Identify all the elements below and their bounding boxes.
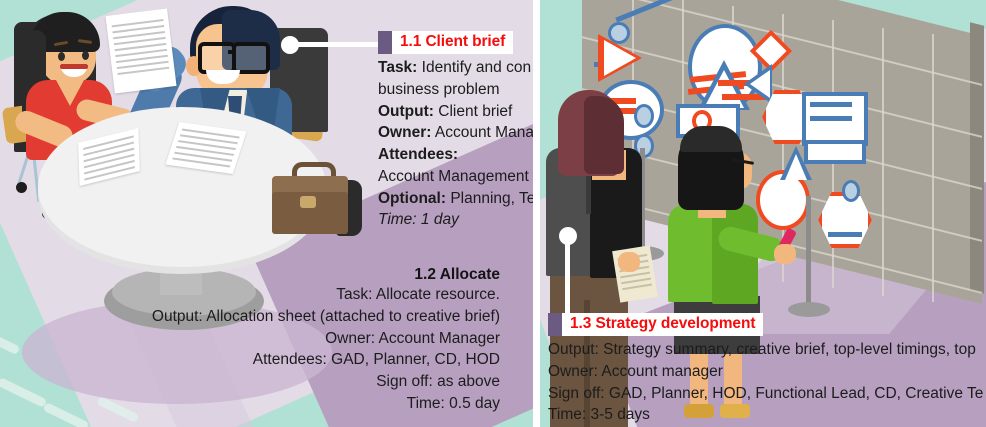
board-triangle-inner <box>785 154 807 180</box>
line-value: Time: 1 day <box>378 211 459 228</box>
callout-title-band: 1.1 Client brief <box>392 31 513 54</box>
callout-1-2-title: 1.2 Allocate <box>0 266 500 284</box>
callout-1-3-body: Output: Strategy summary, creative brief… <box>548 340 983 426</box>
board-rect <box>804 140 866 164</box>
chair-wheel <box>16 182 27 193</box>
line-value: Owner: Account manager <box>548 362 983 383</box>
callout-1-3-title: 1.3 Strategy development <box>570 315 755 333</box>
woman-hand <box>774 244 796 264</box>
callout-1-3[interactable]: 1.3 Strategy development Output: Strateg… <box>548 313 983 426</box>
line-value: Account Mana <box>435 124 533 141</box>
board-dot <box>842 180 860 202</box>
glasses-bridge <box>228 50 236 54</box>
panel-strategy-development: 1.3 Strategy development Output: Strateg… <box>540 0 986 427</box>
woman-hair-top <box>680 126 742 152</box>
board-line <box>810 116 852 121</box>
connector-line-13 <box>565 240 570 318</box>
line-value: Account Management <box>378 168 529 185</box>
callout-1-3-titlerow: 1.3 Strategy development <box>548 313 983 336</box>
callout-marker <box>378 31 392 54</box>
man-hand <box>618 252 640 272</box>
line-value: business problem <box>378 81 499 98</box>
line-value: Output: Allocation sheet (attached to cr… <box>0 307 500 328</box>
briefcase-lock <box>300 196 316 208</box>
infographic-canvas: 1.1 Client brief Task: Identify and con … <box>0 0 986 427</box>
line-value: Time: 0.5 day <box>0 394 500 415</box>
line-value: Sign off: GAD, Planner, HOD, Functional … <box>548 384 983 405</box>
board-line <box>810 102 852 107</box>
panel-divider <box>533 0 540 427</box>
line-value: Client brief <box>438 103 512 120</box>
callout-1-2-body: Task: Allocate resource. Output: Allocat… <box>0 285 500 415</box>
whiteboard-edge <box>970 22 984 293</box>
panel-client-brief: 1.1 Client brief Task: Identify and con … <box>0 0 533 427</box>
line-label: Owner: <box>378 124 431 141</box>
line-value: Task: Allocate resource. <box>0 285 500 306</box>
connector-dot-13 <box>559 227 577 245</box>
line-value: Attendees: GAD, Planner, CD, HOD <box>0 350 500 371</box>
callout-1-2[interactable]: 1.2 Allocate Task: Allocate resource. Ou… <box>0 266 500 415</box>
held-document <box>105 9 176 94</box>
line-label: Optional: <box>378 190 446 207</box>
line-value: Planning, Te <box>450 190 533 207</box>
line-label: Attendees: <box>378 146 458 163</box>
connector-line-11 <box>296 42 380 47</box>
table-document <box>165 122 246 174</box>
callout-1-1-title: 1.1 Client brief <box>400 33 505 51</box>
whiteboard-grid-line <box>882 28 884 296</box>
callout-1-1-body: Task: Identify and con business problem … <box>378 58 533 231</box>
line-label: Output: <box>378 103 434 120</box>
line-value: Time: 3-5 days <box>548 405 983 426</box>
line-value: Output: Strategy summary, creative brief… <box>548 340 983 361</box>
man-jacket-slit <box>586 172 591 214</box>
line-value: Sign off: as above <box>0 372 500 393</box>
board-triangle-inner <box>704 70 744 108</box>
connector-dot-11 <box>281 36 299 54</box>
callout-title-band: 1.3 Strategy development <box>562 313 763 336</box>
callout-marker <box>548 313 562 336</box>
board-line <box>828 232 862 237</box>
line-value: Identify and con <box>422 59 531 76</box>
woman-eye <box>58 52 65 61</box>
woman-eye <box>82 51 89 60</box>
board-triangle-inner <box>604 40 636 76</box>
board-dot <box>634 104 654 128</box>
callout-1-1[interactable]: 1.1 Client brief Task: Identify and con … <box>378 31 533 231</box>
board-triangle-inner <box>750 70 770 98</box>
line-value: Owner: Account Manager <box>0 329 500 350</box>
man-hair-shadow <box>584 96 624 174</box>
woman-lip <box>60 64 88 69</box>
line-label: Task: <box>378 59 417 76</box>
stanchion-pole <box>806 196 811 310</box>
callout-1-1-titlerow: 1.1 Client brief <box>378 31 533 54</box>
